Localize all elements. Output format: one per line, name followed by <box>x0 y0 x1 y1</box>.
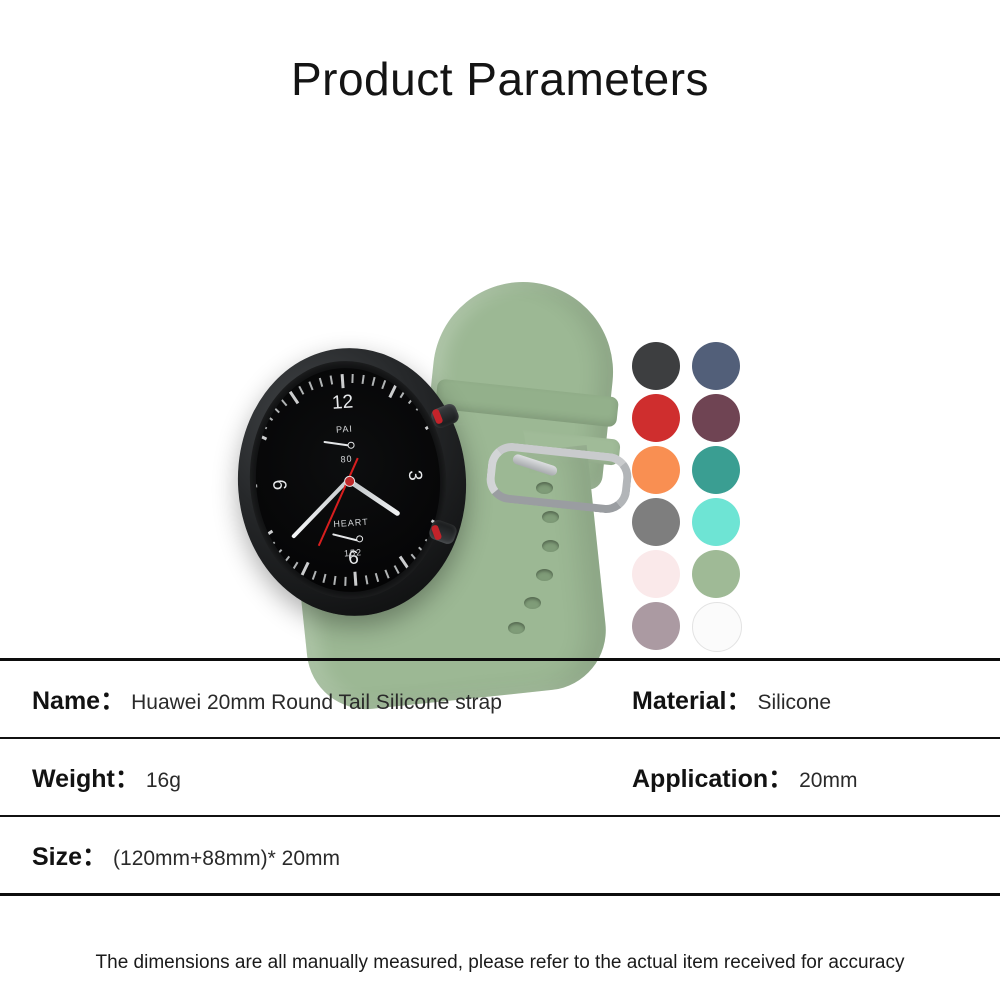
subdial-heart-pivot <box>356 535 363 542</box>
strap-hole <box>536 569 553 581</box>
color-swatch-white[interactable] <box>692 602 742 652</box>
spec-value-name: Huawei 20mm Round Tail Silicone strap <box>131 691 502 715</box>
subdial-pai-pivot <box>347 441 354 448</box>
subdial-pai-value: 80 <box>340 454 353 465</box>
spec-cell-material: Material： Silicone <box>632 681 831 717</box>
minute-hand <box>291 477 351 539</box>
color-swatch-slate-navy[interactable] <box>692 342 740 390</box>
footer-note: The dimensions are all manually measured… <box>0 952 1000 974</box>
subdial-heart-value: 152 <box>344 547 363 558</box>
spec-label-name: Name： <box>32 681 125 717</box>
product-image: 12 3 6 9 PAI 80 HEART 152 <box>0 130 1000 630</box>
subdial-heart-hand <box>332 533 358 541</box>
spec-label-weight: Weight： <box>32 759 140 795</box>
dial-numeral-12: 12 <box>331 391 354 414</box>
color-swatch-red[interactable] <box>632 394 680 442</box>
color-swatch-turquoise[interactable] <box>692 498 740 546</box>
spec-label-application: Application： <box>632 759 793 795</box>
spec-cell-application: Application： 20mm <box>632 759 857 795</box>
table-bottom-rule <box>0 893 1000 896</box>
spec-label-material: Material： <box>632 681 751 717</box>
subdial-heart-label: HEART <box>333 517 369 529</box>
dial-numeral-9: 9 <box>270 479 293 491</box>
spec-value-size: (120mm+88mm)* 20mm <box>113 847 340 871</box>
spec-value-application: 20mm <box>799 769 857 793</box>
spec-row-name: Name： Huawei 20mm Round Tail Silicone st… <box>0 661 1000 737</box>
strap-hole <box>524 597 541 609</box>
color-swatch-pale-pink[interactable] <box>632 550 680 598</box>
subdial-pai-hand <box>323 441 349 447</box>
page-title: Product Parameters <box>0 52 1000 106</box>
color-swatch-charcoal[interactable] <box>632 342 680 390</box>
spec-label-size: Size： <box>32 837 107 873</box>
color-swatch-teal[interactable] <box>692 446 740 494</box>
spec-table: Name： Huawei 20mm Round Tail Silicone st… <box>0 658 1000 896</box>
color-swatch-maroon[interactable] <box>692 394 740 442</box>
strap-hole <box>508 622 525 634</box>
strap-hole <box>542 540 559 552</box>
dial-numeral-3: 3 <box>403 469 426 481</box>
spec-value-weight: 16g <box>146 769 181 793</box>
spec-cell-name: Name： Huawei 20mm Round Tail Silicone st… <box>32 681 502 717</box>
color-swatch-grid <box>632 342 740 654</box>
strap-hole <box>542 511 559 523</box>
color-swatch-orange[interactable] <box>632 446 680 494</box>
spec-row-size: Size： (120mm+88mm)* 20mm <box>0 817 1000 893</box>
spec-value-material: Silicone <box>757 691 831 715</box>
spec-cell-weight: Weight： 16g <box>32 759 181 795</box>
color-swatch-gray[interactable] <box>632 498 680 546</box>
spec-cell-size: Size： (120mm+88mm)* 20mm <box>32 837 340 873</box>
hand-pivot-cap <box>343 475 355 487</box>
color-swatch-mauve[interactable] <box>632 602 680 650</box>
spec-row-weight: Weight： 16g Application： 20mm <box>0 739 1000 815</box>
subdial-pai-label: PAI <box>336 424 354 435</box>
color-swatch-sage-green[interactable] <box>692 550 740 598</box>
